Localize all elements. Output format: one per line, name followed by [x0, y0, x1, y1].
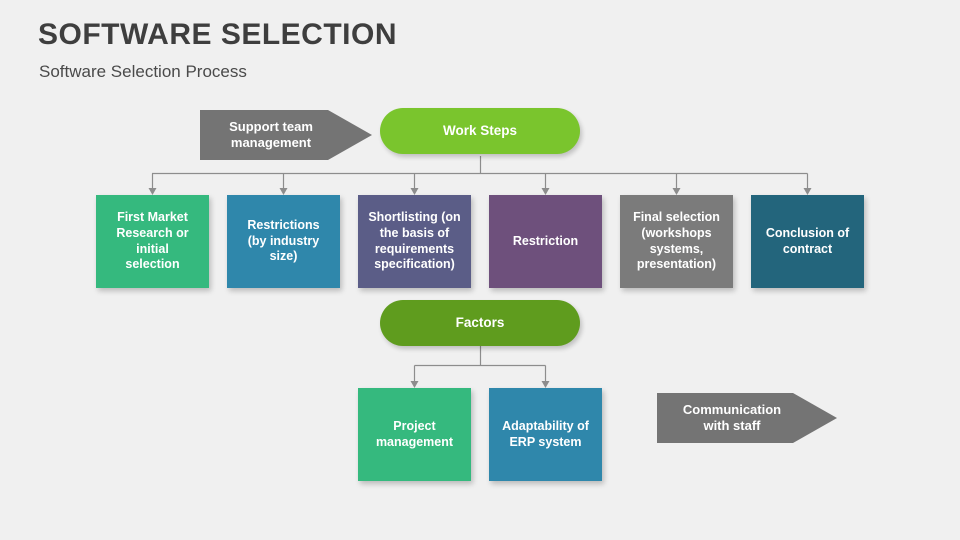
box-conclusion-of-contract[interactable]: Conclusion of contract — [751, 195, 864, 288]
box-shortlisting[interactable]: Shortlisting (on the basis of requiremen… — [358, 195, 471, 288]
box-adaptability-of-erp-system-label: Adaptability of ERP system — [496, 419, 595, 450]
box-restrictions-by-industry-size[interactable]: Restrictions (by industry size) — [227, 195, 340, 288]
pill-factors-label: Factors — [450, 315, 511, 332]
banner-support-team-management-label: Support team management — [223, 119, 319, 152]
box-project-management[interactable]: Project management — [358, 388, 471, 481]
box-restrictions-by-industry-size-label: Restrictions (by industry size) — [241, 218, 325, 265]
box-conclusion-of-contract-label: Conclusion of contract — [760, 226, 855, 257]
slide-canvas: SOFTWARE SELECTION Software Selection Pr… — [0, 0, 960, 540]
pill-work-steps[interactable]: Work Steps — [380, 108, 580, 154]
box-restriction[interactable]: Restriction — [489, 195, 602, 288]
box-first-market-research-label: First Market Research or initial selecti… — [110, 210, 194, 273]
box-project-management-label: Project management — [370, 419, 459, 450]
box-restriction-label: Restriction — [507, 234, 584, 250]
banner-communication-with-staff-label: Communication with staff — [677, 402, 787, 435]
pill-factors[interactable]: Factors — [380, 300, 580, 346]
box-shortlisting-label: Shortlisting (on the basis of requiremen… — [362, 210, 466, 273]
box-adaptability-of-erp-system[interactable]: Adaptability of ERP system — [489, 388, 602, 481]
banner-support-team-management[interactable]: Support team management — [200, 110, 372, 160]
pill-work-steps-label: Work Steps — [437, 123, 523, 140]
box-first-market-research[interactable]: First Market Research or initial selecti… — [96, 195, 209, 288]
page-subtitle: Software Selection Process — [39, 62, 247, 82]
box-final-selection-label: Final selection (workshops systems, pres… — [627, 210, 726, 273]
banner-communication-with-staff[interactable]: Communication with staff — [657, 393, 837, 443]
box-final-selection[interactable]: Final selection (workshops systems, pres… — [620, 195, 733, 288]
page-title: SOFTWARE SELECTION — [38, 18, 397, 52]
